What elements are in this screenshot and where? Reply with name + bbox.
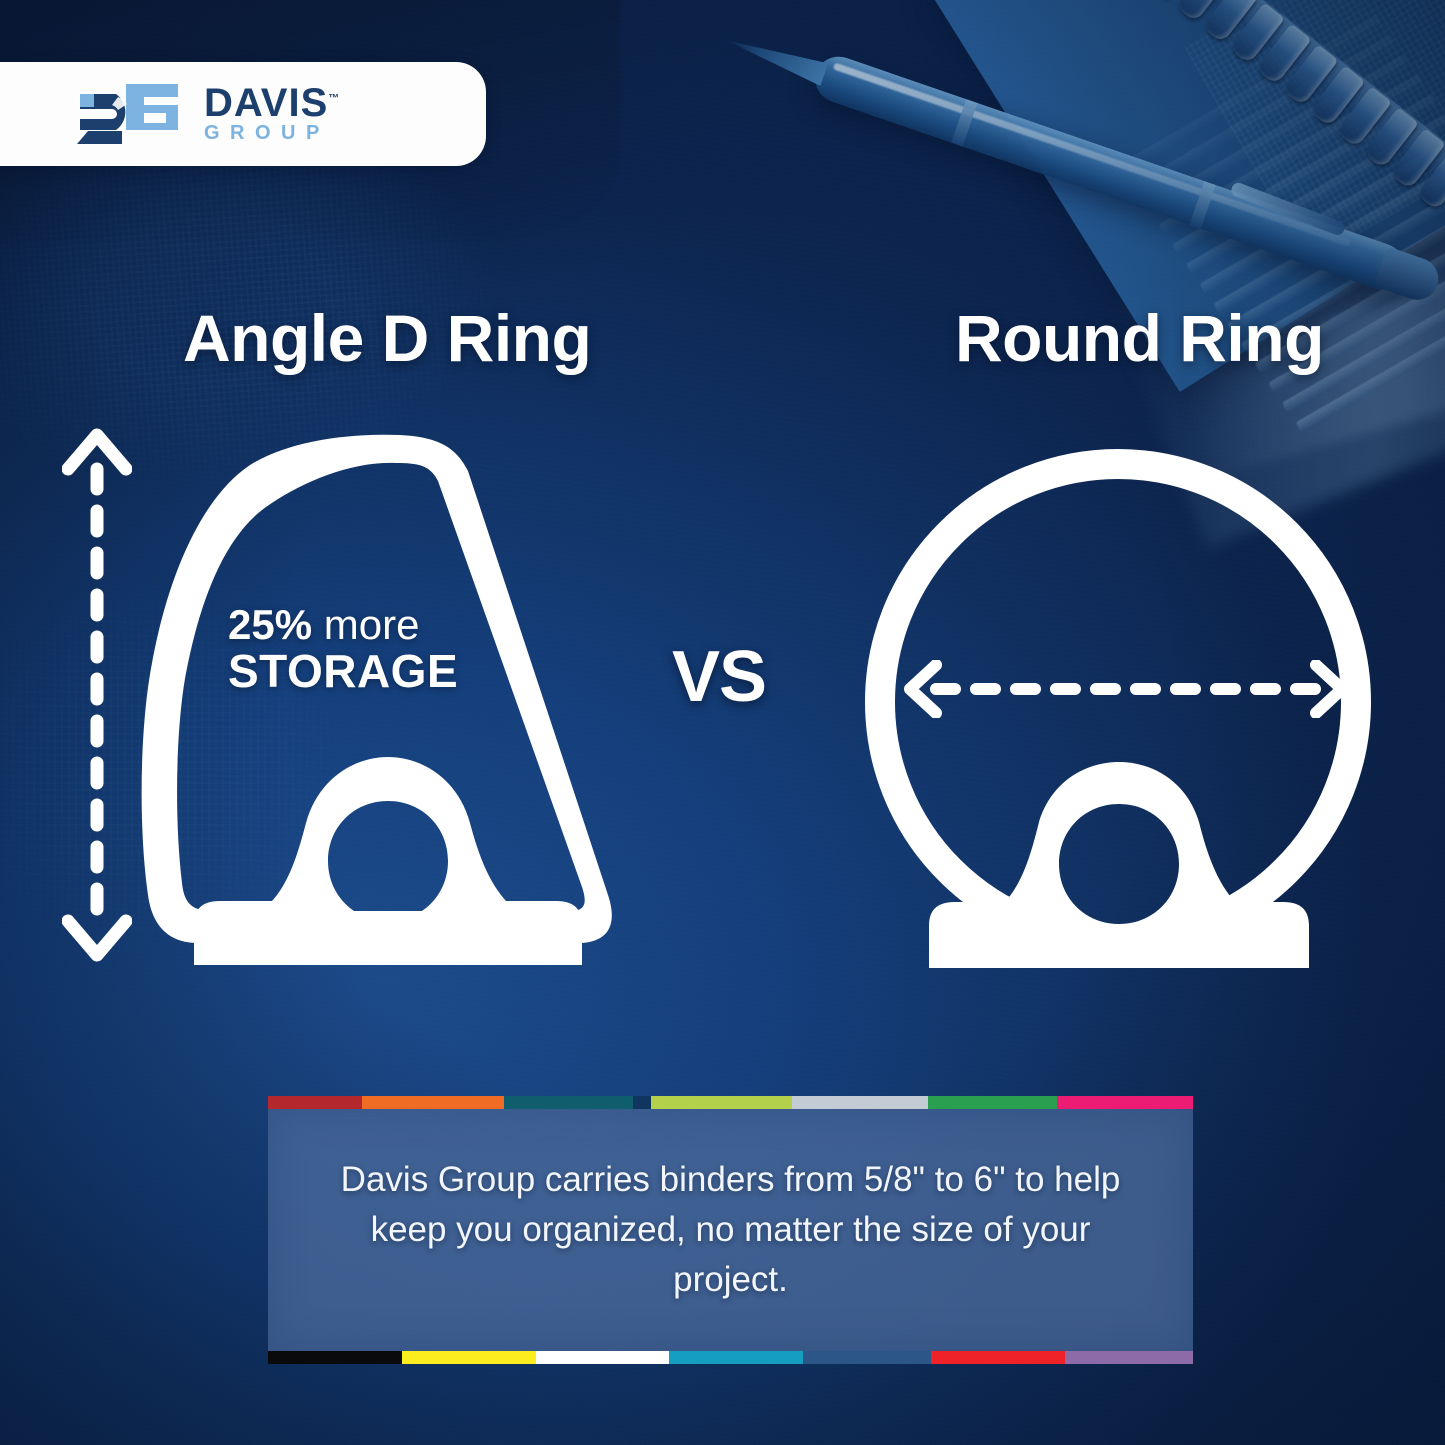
brand-wordmark: DAVIS™ GROUP: [204, 85, 340, 144]
trademark-symbol: ™: [328, 92, 340, 104]
horizontal-dashed-double-arrow-icon: [898, 660, 1354, 718]
color-strip-segment: [1057, 1096, 1193, 1109]
storage-badge-storage: STORAGE: [228, 647, 508, 695]
storage-badge: 25% more STORAGE: [228, 604, 508, 695]
color-strip-segment: [268, 1351, 402, 1364]
angle-d-ring-base-mount: [176, 755, 596, 970]
color-strip-segment: [633, 1096, 651, 1109]
color-strip-segment: [792, 1096, 928, 1109]
color-strip-segment: [268, 1096, 362, 1109]
color-strip-segment: [669, 1351, 803, 1364]
caption-text: Davis Group carries binders from 5/8" to…: [333, 1155, 1129, 1304]
brand-word-primary: DAVIS™: [204, 85, 340, 122]
brand-word-secondary: GROUP: [204, 123, 340, 143]
brand-logo-bar: DAVIS™ GROUP: [0, 62, 486, 166]
color-strip-top: [268, 1096, 1193, 1109]
storage-badge-percent: 25%: [228, 601, 312, 648]
promo-graphic: DAVIS™ GROUP Angle D Ring Round Ring 25%…: [0, 0, 1445, 1445]
storage-badge-more: more: [312, 601, 419, 648]
dg-monogram-icon: [74, 83, 182, 145]
color-strip-bottom: [268, 1351, 1193, 1364]
caption-body: Davis Group carries binders from 5/8" to…: [268, 1109, 1193, 1351]
heading-round-ring: Round Ring: [955, 300, 1324, 376]
heading-angle-d-ring: Angle D Ring: [183, 300, 591, 376]
caption-panel: Davis Group carries binders from 5/8" to…: [268, 1096, 1193, 1364]
color-strip-segment: [803, 1351, 931, 1364]
color-strip-segment: [536, 1351, 670, 1364]
round-ring-base-mount: [915, 760, 1325, 972]
color-strip-segment: [928, 1096, 1058, 1109]
color-strip-segment: [504, 1096, 634, 1109]
color-strip-segment: [931, 1351, 1065, 1364]
color-strip-segment: [362, 1096, 503, 1109]
color-strip-segment: [651, 1096, 792, 1109]
vertical-dashed-double-arrow-icon: [62, 425, 132, 965]
color-strip-segment: [402, 1351, 536, 1364]
color-strip-segment: [1065, 1351, 1193, 1364]
vs-label: VS: [672, 636, 766, 718]
